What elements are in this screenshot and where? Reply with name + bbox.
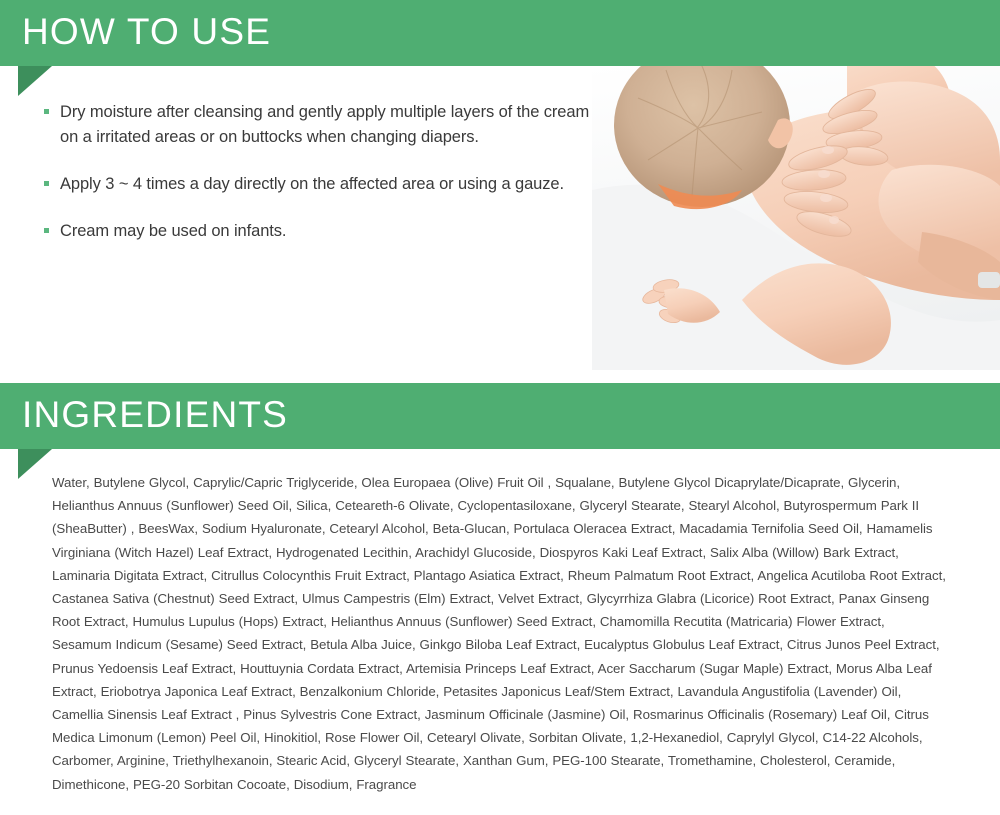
- bullet-dot-icon: [44, 109, 49, 114]
- ingredients-title: INGREDIENTS: [22, 394, 288, 436]
- ingredients-section: INGREDIENTS Water, Butylene Glycol, Capr…: [0, 383, 1000, 815]
- how-to-use-bullet-list: Dry moisture after cleansing and gently …: [44, 100, 604, 266]
- how-to-use-section: HOW TO USE Dry moisture after cleansing …: [0, 0, 1000, 370]
- list-item: Cream may be used on infants.: [44, 219, 604, 244]
- ingredients-text: Water, Butylene Glycol, Caprylic/Capric …: [52, 471, 948, 796]
- how-to-use-banner-tail: [18, 66, 52, 96]
- product-detail-page: HOW TO USE Dry moisture after cleansing …: [0, 0, 1000, 815]
- ingredients-banner: INGREDIENTS: [0, 383, 1000, 449]
- bullet-text: Apply 3 ~ 4 times a day directly on the …: [60, 172, 564, 197]
- bullet-text: Dry moisture after cleansing and gently …: [60, 100, 604, 150]
- how-to-use-banner: HOW TO USE: [0, 0, 1000, 66]
- bullet-dot-icon: [44, 228, 49, 233]
- bullet-dot-icon: [44, 181, 49, 186]
- bullet-text: Cream may be used on infants.: [60, 219, 286, 244]
- list-item: Apply 3 ~ 4 times a day directly on the …: [44, 172, 604, 197]
- how-to-use-title: HOW TO USE: [22, 11, 271, 53]
- list-item: Dry moisture after cleansing and gently …: [44, 100, 604, 150]
- ingredients-banner-tail: [18, 449, 52, 479]
